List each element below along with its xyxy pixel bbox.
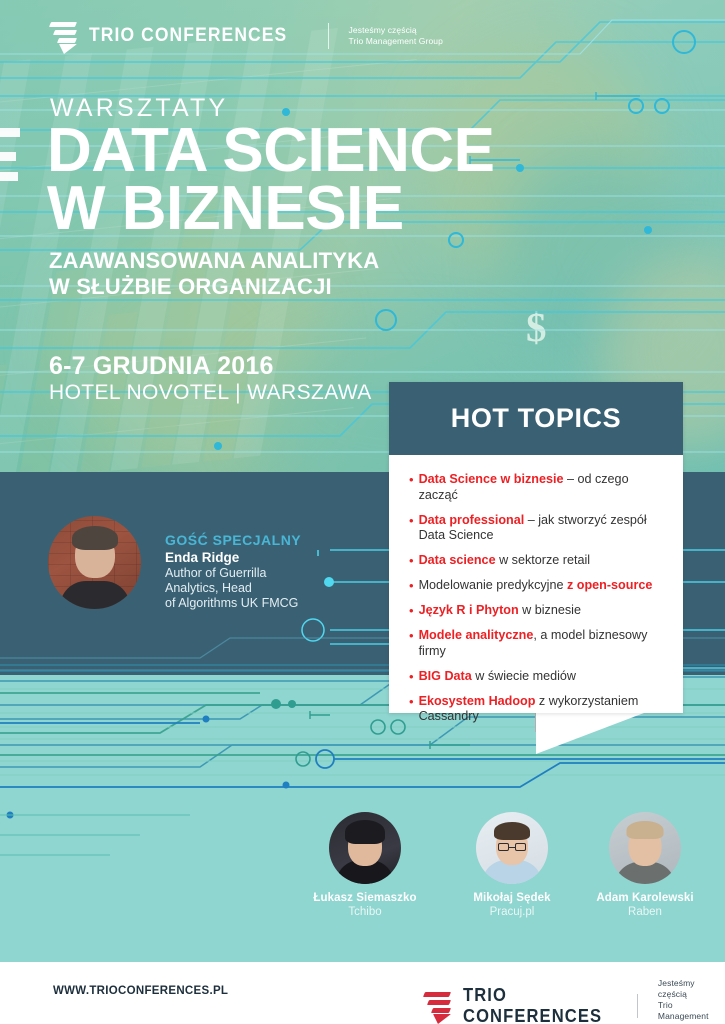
speaker-card: Adam Karolewski Raben (565, 812, 725, 918)
trio-chevron-icon (424, 990, 454, 1022)
footer-tagline-line2: Trio Management Group (658, 1000, 725, 1024)
speaker-avatar (609, 812, 681, 884)
topic-text: w sektorze retail (496, 553, 590, 567)
hot-topics-title: HOT TOPICS (451, 403, 622, 434)
topic-item: • Modele analityczne, a model biznesowy … (409, 628, 666, 659)
event-subtitle-line2: W SŁUŻBIE ORGANIZACJI (49, 274, 379, 300)
avatar-body (60, 581, 130, 609)
bullet-icon: • (409, 513, 414, 544)
speaker-name: Łukasz Siemaszko (285, 892, 445, 904)
brand-tagline: Jesteśmy częścią Trio Management Group (349, 25, 443, 47)
footer-website-url[interactable]: WWW.TRIOCONFERENCES.PL (53, 985, 228, 997)
event-venue: HOTEL NOVOTEL | WARSZAWA (49, 381, 372, 405)
bullet-icon: • (409, 553, 414, 569)
guest-desc-line2: Analytics, Head (165, 581, 298, 596)
speakers-row: Łukasz Siemaszko Tchibo Mikołaj Sędek Pr… (0, 812, 725, 942)
topic-highlight: Data science (419, 553, 496, 567)
topic-item: • Data science w sektorze retail (409, 553, 666, 569)
special-guest-description: Author of Guerrilla Analytics, Head of A… (165, 566, 298, 611)
logo-divider (328, 23, 329, 49)
footer-brand-tagline: Jesteśmy częścią Trio Management Group (658, 978, 725, 1024)
bullet-icon: • (409, 628, 414, 659)
bullet-icon: • (409, 603, 414, 619)
brand-name: TRIO CONFERENCES (89, 25, 287, 47)
guest-desc-line3: of Algorithms UK FMCG (165, 596, 298, 611)
topic-item: • Język R i Phyton w biznesie (409, 603, 666, 619)
event-title: DATA SCIENCE W BIZNESIE (47, 122, 495, 238)
event-title-line2: W BIZNESIE (47, 180, 495, 238)
topic-text: w biznesie (519, 603, 581, 617)
guest-desc-line1: Author of Guerrilla (165, 566, 298, 581)
trio-chevron-icon (50, 20, 80, 52)
footer-tagline-line1: Jesteśmy częścią (658, 978, 725, 1000)
brand-tagline-line1: Jesteśmy częścią (349, 25, 443, 36)
special-guest-name: Enda Ridge (165, 550, 239, 565)
brand-logo-header[interactable]: TRIO CONFERENCES Jesteśmy częścią Trio M… (50, 20, 725, 52)
event-date: 6-7 GRUDNIA 2016 (49, 352, 274, 381)
hot-topics-panel: HOT TOPICS • Data Science w biznesie – o… (389, 382, 683, 713)
speaker-company: Raben (565, 906, 725, 918)
topic-highlight: Język R i Phyton (419, 603, 519, 617)
topic-highlight: z open-source (567, 578, 652, 592)
topic-text: Modelowanie predykcyjne (419, 578, 567, 592)
topic-item: • Data Science w biznesie – od czego zac… (409, 472, 666, 503)
topic-item: • Ekosystem Hadoop z wykorzystaniem Cass… (409, 694, 666, 725)
topic-highlight: BIG Data (419, 669, 472, 683)
speaker-card: Łukasz Siemaszko Tchibo (285, 812, 445, 918)
topic-highlight: Ekosystem Hadoop (419, 694, 536, 708)
speaker-avatar (476, 812, 548, 884)
bullet-icon: • (409, 669, 414, 685)
event-subtitle-line1: ZAAWANSOWANA ANALITYKA (49, 248, 379, 274)
bullet-icon: • (409, 472, 414, 503)
topic-highlight: Data Science w biznesie (419, 472, 564, 486)
bullet-icon: • (409, 578, 414, 594)
hot-topics-list: • Data Science w biznesie – od czego zac… (389, 455, 683, 713)
topic-text: w świecie mediów (472, 669, 576, 683)
special-guest-role: GOŚĆ SPECJALNY (165, 532, 301, 548)
topic-item: • BIG Data w świecie mediów (409, 669, 666, 685)
conference-poster: $ (0, 0, 725, 1024)
topic-highlight: Modele analityczne (419, 628, 534, 642)
speaker-avatar (329, 812, 401, 884)
hot-topics-header: HOT TOPICS (389, 382, 683, 455)
speaker-company: Tchibo (285, 906, 445, 918)
header-logo-bar: TRIO CONFERENCES Jesteśmy częścią Trio M… (0, 20, 725, 70)
event-subtitle: ZAAWANSOWANA ANALITYKA W SŁUŻBIE ORGANIZ… (49, 248, 379, 300)
topic-item: • Data professional – jak stworzyć zespó… (409, 513, 666, 544)
topic-highlight: Data professional (419, 513, 525, 527)
footer-brand-name: TRIO CONFERENCES (463, 985, 602, 1024)
bullet-icon: • (409, 694, 414, 725)
special-guest-avatar (48, 516, 141, 609)
brand-tagline-line2: Trio Management Group (349, 36, 443, 47)
dollar-sign-icon: $ (526, 303, 547, 351)
avatar-hair (72, 526, 118, 550)
topic-item: • Modelowanie predykcyjne z open-source (409, 578, 666, 594)
footer: WWW.TRIOCONFERENCES.PL TRIO CONFERENCES … (0, 962, 725, 1024)
brand-logo-footer[interactable]: TRIO CONFERENCES Jesteśmy częścią Trio M… (424, 978, 725, 1024)
speaker-name: Adam Karolewski (565, 892, 725, 904)
logo-divider (637, 994, 638, 1018)
